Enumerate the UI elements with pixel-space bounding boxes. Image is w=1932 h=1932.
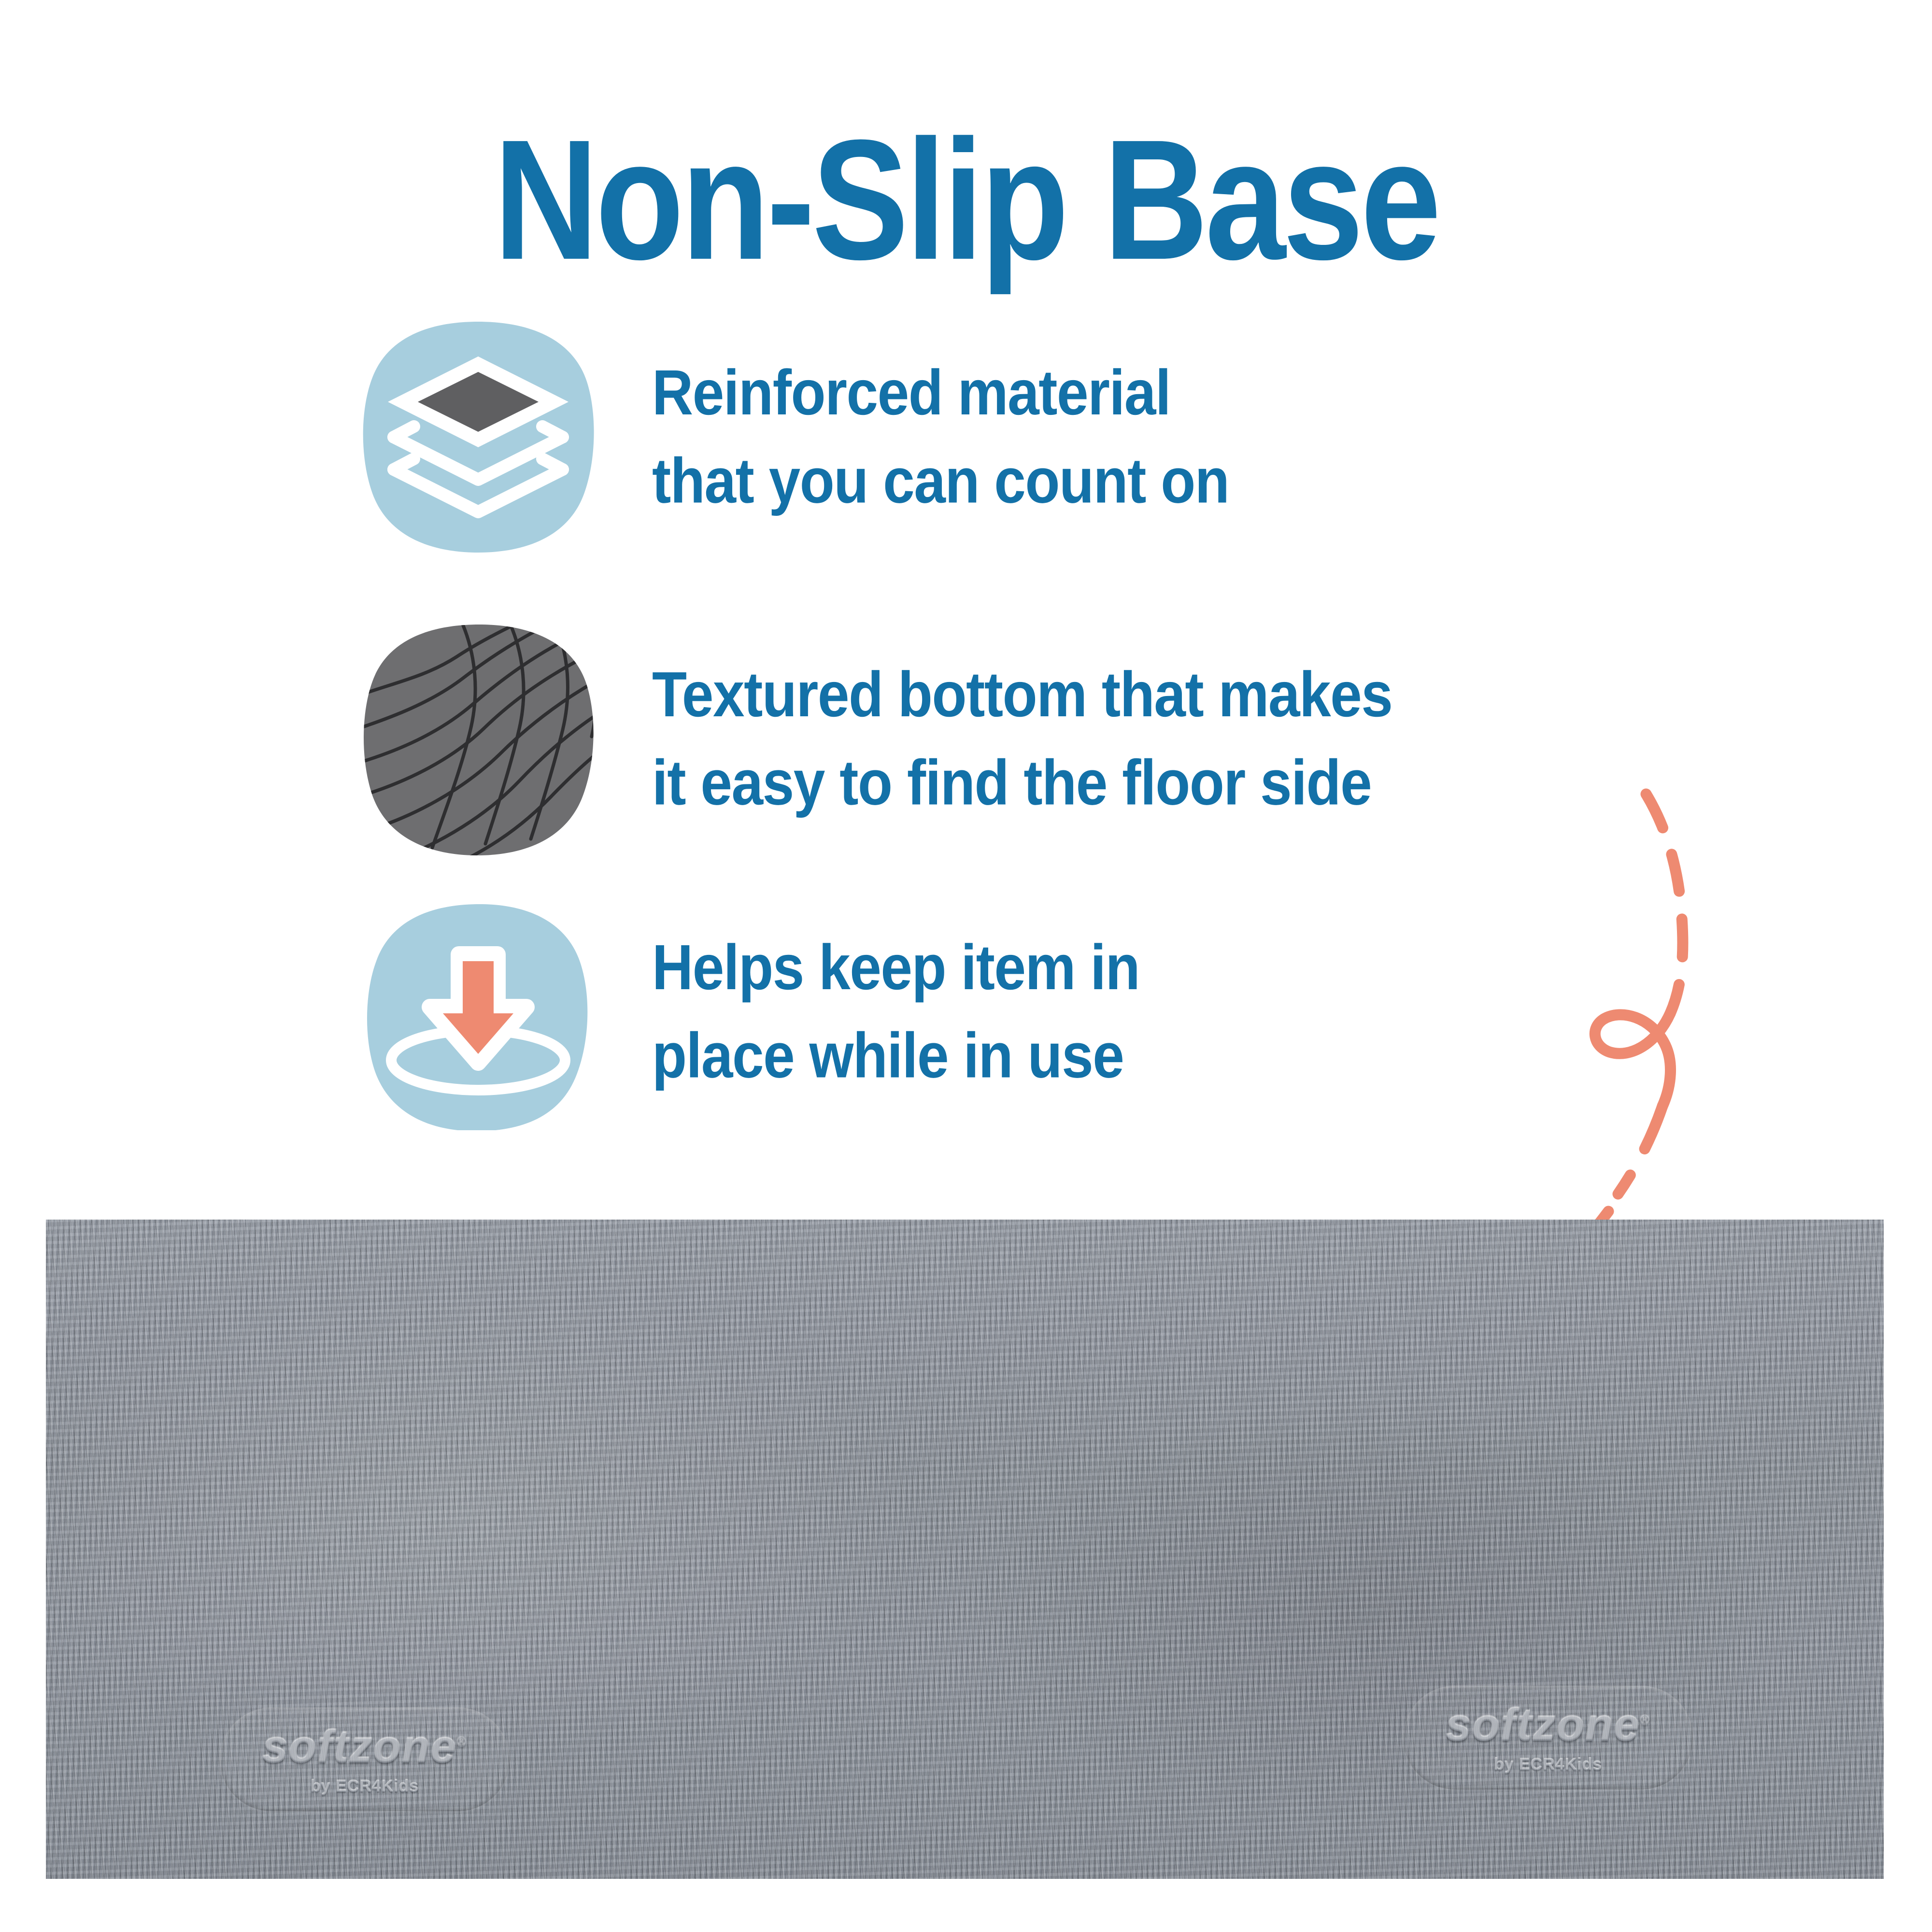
page-title: Non-Slip Base bbox=[0, 114, 1932, 285]
layers-icon bbox=[360, 319, 597, 555]
brand-wordmark: softzone® bbox=[262, 1724, 467, 1770]
brand-wordmark: softzone® bbox=[1446, 1703, 1650, 1748]
infographic-page: Non-Slip Base Reinforced material that y… bbox=[0, 0, 1932, 1932]
textured-surface-icon bbox=[360, 621, 597, 857]
brand-subline: by ECR4Kids bbox=[1494, 1757, 1603, 1773]
brand-subline: by ECR4Kids bbox=[311, 1778, 419, 1795]
feature-label: Textured bottom that makes it easy to fi… bbox=[652, 651, 1392, 827]
feature-row: Reinforced material that you can count o… bbox=[360, 319, 1229, 555]
product-photo: softzone® by ECR4Kids softzone® by ECR4K… bbox=[46, 1220, 1884, 1879]
downward-arrow-grip-icon bbox=[360, 894, 597, 1130]
embossed-logo: softzone® by ECR4Kids bbox=[220, 1707, 510, 1811]
feature-row: Textured bottom that makes it easy to fi… bbox=[360, 621, 1392, 857]
feature-label: Helps keep item in place while in use bbox=[652, 924, 1139, 1100]
feature-row: Helps keep item in place while in use bbox=[360, 894, 1139, 1130]
embossed-logo: softzone® by ECR4Kids bbox=[1403, 1686, 1693, 1790]
feature-label: Reinforced material that you can count o… bbox=[652, 349, 1229, 526]
